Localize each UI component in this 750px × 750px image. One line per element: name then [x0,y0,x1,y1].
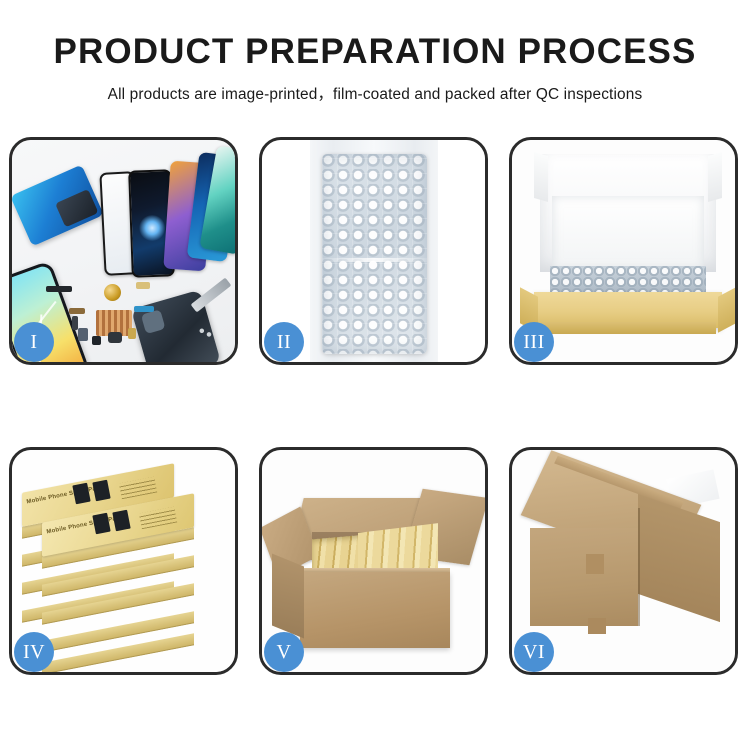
component-chip-icon [108,332,122,343]
carton-front-panel [530,528,638,626]
process-step-panel-2: II [259,137,488,365]
page-header: PRODUCT PREPARATION PROCESS All products… [0,0,750,104]
kraft-box-front-edge [540,322,716,334]
carton-tab-icon [588,618,606,634]
component-chip-icon [136,282,150,289]
bubble-wrap-pouch-icon [322,154,427,354]
step-number-badge-3: III [514,322,554,362]
flex-cable-icon [134,306,154,312]
speaker-coil-icon [104,284,121,301]
process-step-panel-3: III [509,137,738,365]
component-chip-icon [128,328,136,339]
process-step-panel-6: VI [509,447,738,675]
component-chip-icon [78,328,88,341]
page-title: PRODUCT PREPARATION PROCESS [0,34,750,71]
product-preparation-page: PRODUCT PREPARATION PROCESS All products… [0,0,750,750]
process-step-panel-5: V [259,447,488,675]
carton-left-panel [272,554,304,639]
carton-tab-icon [586,554,604,574]
step-number-badge-1: I [14,322,54,362]
page-subtitle: All products are image-printed，film-coat… [0,82,750,104]
process-step-panel-4: Mobile Phone Spare Parts Mobile Phone Sp… [9,447,238,675]
step-number-badge-4: IV [14,632,54,672]
foam-padding-icon [552,196,704,270]
step-number-badge-2: II [264,322,304,362]
step-number-badge-6: VI [514,632,554,672]
component-chip-icon [46,286,72,292]
process-step-grid: I II [9,137,742,675]
bubble-wrap-seam [322,258,427,262]
component-chip-icon [92,336,101,345]
process-step-panel-1: I [9,137,238,365]
step-number-badge-5: V [264,632,304,672]
component-chip-icon [69,308,85,314]
screws-icon [197,326,213,338]
blue-adhesive-sheet-icon [12,165,104,247]
carton-right-panel [638,494,720,622]
carton-front-panel [300,572,450,648]
carton-corner-edge [638,508,640,626]
component-chip-icon [72,316,78,330]
